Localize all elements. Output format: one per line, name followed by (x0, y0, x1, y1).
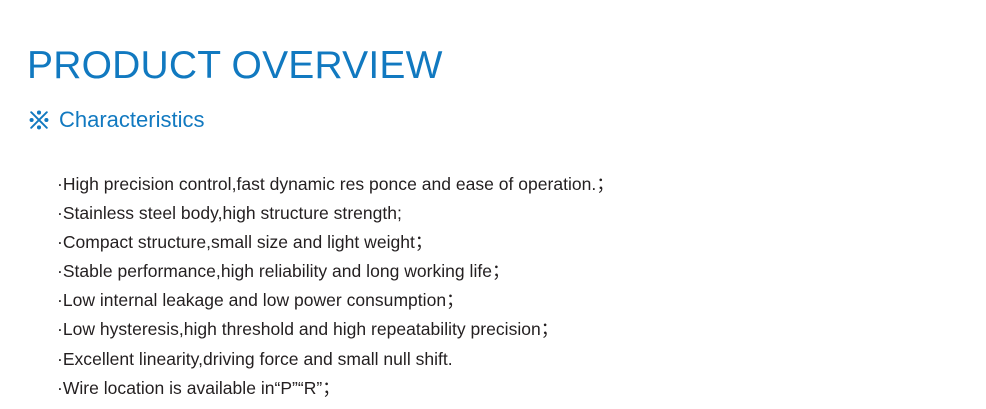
section-heading-characteristics: Characteristics (27, 107, 204, 133)
characteristics-list: ·High precision control,fast dynamic res… (57, 170, 614, 403)
section-heading-label: Characteristics (59, 107, 204, 133)
page-title: PRODUCT OVERVIEW (27, 43, 443, 89)
list-item: ·Compact structure,small size and light … (57, 228, 614, 257)
list-item: ·Stable performance,high reliability and… (57, 257, 614, 286)
kome-reference-mark-icon (27, 108, 51, 132)
list-item: ·High precision control,fast dynamic res… (57, 170, 614, 199)
list-item: ·Low internal leakage and low power cons… (57, 286, 614, 315)
list-item: ·Stainless steel body,high structure str… (57, 199, 614, 228)
list-item: ·Excellent linearity,driving force and s… (57, 345, 614, 374)
list-item: ·Wire location is available in“P”“R”； (57, 374, 614, 403)
list-item: ·Low hysteresis,high threshold and high … (57, 315, 614, 344)
product-overview-slide: PRODUCT OVERVIEW Characteristics ·High p… (0, 0, 986, 409)
